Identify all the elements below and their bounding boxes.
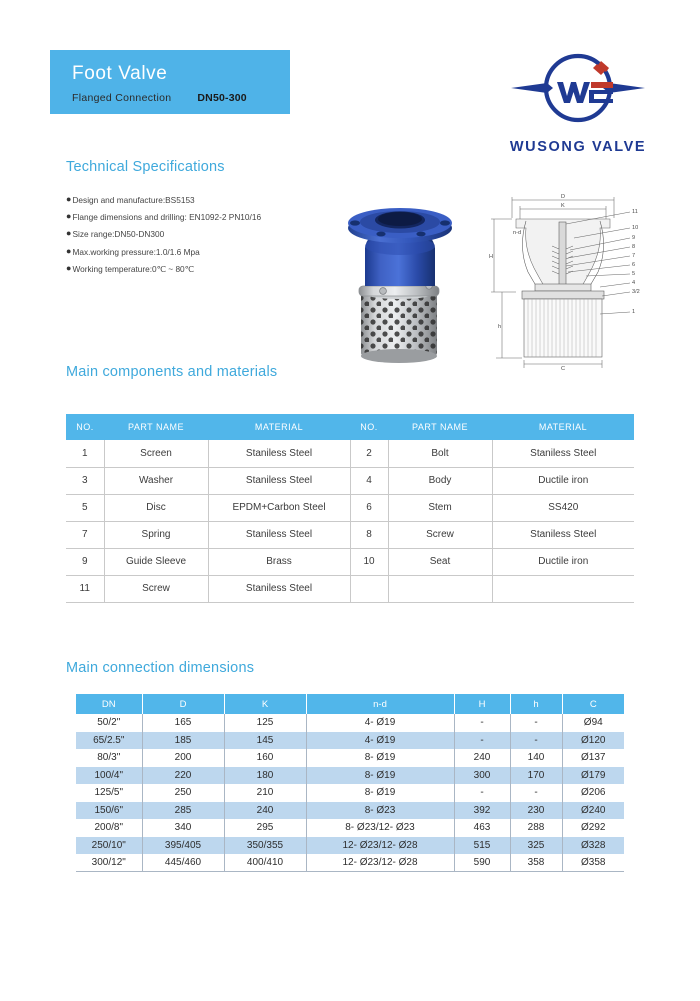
spec-bullet-text: Design and manufacture:BS5153 bbox=[72, 195, 194, 205]
materials-cell: Staniless Steel bbox=[492, 440, 634, 467]
dimensions-cell: 125 bbox=[224, 714, 306, 732]
spec-bullet-item: ●Working temperature:0℃ ~ 80℃ bbox=[66, 260, 336, 277]
section-heading-technical-specifications: Technical Specifications bbox=[66, 159, 225, 175]
dimensions-cell: 140 bbox=[510, 749, 562, 767]
svg-text:h: h bbox=[498, 324, 501, 330]
dimensions-table-body: 50/2"1651254- Ø19--Ø9465/2.5"1851454- Ø1… bbox=[76, 714, 624, 872]
dimensions-cell: 180 bbox=[224, 767, 306, 785]
materials-cell: EPDM+Carbon Steel bbox=[208, 494, 350, 521]
dimensions-cell: Ø94 bbox=[562, 714, 624, 732]
dimensions-cell: 185 bbox=[142, 732, 224, 750]
dimensions-cell: 250/10" bbox=[76, 837, 142, 855]
brand-name: WUSONG VALVE bbox=[493, 139, 663, 155]
product-photo-foot-valve bbox=[333, 186, 478, 368]
dimensions-cell: 325 bbox=[510, 837, 562, 855]
dimensions-column-header: DN bbox=[76, 694, 142, 714]
dimensions-cell: 340 bbox=[142, 819, 224, 837]
svg-text:6: 6 bbox=[632, 262, 635, 268]
dimensions-cell: 590 bbox=[454, 854, 510, 872]
spec-bullet-text: Working temperature:0℃ ~ 80℃ bbox=[72, 264, 194, 274]
dimensions-cell: 395/405 bbox=[142, 837, 224, 855]
materials-cell: 5 bbox=[66, 494, 104, 521]
dimensions-cell: 288 bbox=[510, 819, 562, 837]
materials-cell bbox=[388, 575, 492, 602]
svg-text:C: C bbox=[561, 366, 565, 370]
svg-text:9: 9 bbox=[632, 235, 635, 241]
table-row: 300/12"445/460400/41012- Ø23/12- Ø285903… bbox=[76, 854, 624, 872]
dimensions-cell: 300/12" bbox=[76, 854, 142, 872]
table-row: 3WasherStaniless Steel4BodyDuctile iron bbox=[66, 467, 634, 494]
dimensions-cell: 150/6" bbox=[76, 802, 142, 820]
wusong-logo-icon bbox=[493, 46, 663, 132]
dimensions-cell: 145 bbox=[224, 732, 306, 750]
svg-text:3/2: 3/2 bbox=[632, 289, 640, 295]
table-row: 200/8"3402958- Ø23/12- Ø23463288Ø292 bbox=[76, 819, 624, 837]
dimensions-column-header: n-d bbox=[306, 694, 454, 714]
svg-text:7: 7 bbox=[632, 253, 635, 259]
dimensions-table: DNDKn-dHhC 50/2"1651254- Ø19--Ø9465/2.5"… bbox=[76, 694, 624, 872]
materials-cell: Ductile iron bbox=[492, 548, 634, 575]
materials-cell: 7 bbox=[66, 521, 104, 548]
table-row: 250/10"395/405350/35512- Ø23/12- Ø285153… bbox=[76, 837, 624, 855]
materials-cell: Spring bbox=[104, 521, 208, 548]
materials-cell: Disc bbox=[104, 494, 208, 521]
svg-text:H: H bbox=[489, 254, 493, 260]
spec-bullet-item: ●Size range:DN50-DN300 bbox=[66, 225, 336, 242]
product-title-banner: Foot Valve Flanged Connection DN50-300 bbox=[50, 50, 290, 114]
dimensions-cell: 8- Ø19 bbox=[306, 767, 454, 785]
dimensions-cell: 12- Ø23/12- Ø28 bbox=[306, 854, 454, 872]
materials-cell: Ductile iron bbox=[492, 467, 634, 494]
dimensions-cell: 165 bbox=[142, 714, 224, 732]
materials-cell: Stem bbox=[388, 494, 492, 521]
page-title: Foot Valve bbox=[72, 62, 290, 86]
dimensions-cell: 350/355 bbox=[224, 837, 306, 855]
dimensions-cell: Ø328 bbox=[562, 837, 624, 855]
materials-cell: 4 bbox=[350, 467, 388, 494]
spec-bullet-item: ●Flange dimensions and drilling: EN1092-… bbox=[66, 208, 336, 225]
materials-cell: Seat bbox=[388, 548, 492, 575]
dimensions-cell: 220 bbox=[142, 767, 224, 785]
dimensions-column-header: K bbox=[224, 694, 306, 714]
table-row: 5DiscEPDM+Carbon Steel6StemSS420 bbox=[66, 494, 634, 521]
materials-cell: Screw bbox=[388, 521, 492, 548]
spec-bullet-text: Size range:DN50-DN300 bbox=[72, 229, 164, 239]
materials-cell: Staniless Steel bbox=[208, 440, 350, 467]
materials-column-header: NO. bbox=[66, 414, 104, 440]
dimensions-cell: Ø358 bbox=[562, 854, 624, 872]
dimensions-cell: 210 bbox=[224, 784, 306, 802]
section-heading-main-components: Main components and materials bbox=[66, 364, 277, 380]
dimensions-column-header: C bbox=[562, 694, 624, 714]
spec-bullet-item: ●Design and manufacture:BS5153 bbox=[66, 191, 336, 208]
dimensions-cell: 285 bbox=[142, 802, 224, 820]
materials-cell: Staniless Steel bbox=[208, 521, 350, 548]
dimensions-cell: Ø120 bbox=[562, 732, 624, 750]
dimensions-cell: 80/3" bbox=[76, 749, 142, 767]
dimensions-table-header-row: DNDKn-dHhC bbox=[76, 694, 624, 714]
materials-cell: Washer bbox=[104, 467, 208, 494]
table-row: 50/2"1651254- Ø19--Ø94 bbox=[76, 714, 624, 732]
materials-cell: Screen bbox=[104, 440, 208, 467]
materials-cell: Body bbox=[388, 467, 492, 494]
materials-table: NO.PART NAMEMATERIALNO.PART NAMEMATERIAL… bbox=[66, 414, 634, 603]
materials-cell: Bolt bbox=[388, 440, 492, 467]
bullet-dot-icon: ● bbox=[66, 225, 71, 241]
spec-bullet-item: ●Max.working pressure:1.0/1.6 Mpa bbox=[66, 243, 336, 260]
dimensions-cell: 250 bbox=[142, 784, 224, 802]
dimensions-cell: 8- Ø19 bbox=[306, 784, 454, 802]
dimensions-cell: 445/460 bbox=[142, 854, 224, 872]
dimensions-cell: 515 bbox=[454, 837, 510, 855]
materials-cell: 10 bbox=[350, 548, 388, 575]
table-row: 80/3"2001608- Ø19240140Ø137 bbox=[76, 749, 624, 767]
dimensions-cell: 50/2" bbox=[76, 714, 142, 732]
svg-text:K: K bbox=[561, 203, 565, 209]
spec-bullet-text: Max.working pressure:1.0/1.6 Mpa bbox=[72, 247, 199, 257]
table-row: 150/6"2852408- Ø23392230Ø240 bbox=[76, 802, 624, 820]
dimensions-cell: 230 bbox=[510, 802, 562, 820]
materials-column-header: MATERIAL bbox=[208, 414, 350, 440]
svg-text:1: 1 bbox=[632, 309, 635, 315]
materials-cell: 3 bbox=[66, 467, 104, 494]
materials-column-header: NO. bbox=[350, 414, 388, 440]
dimensions-cell: Ø292 bbox=[562, 819, 624, 837]
svg-text:11: 11 bbox=[632, 209, 638, 215]
dimensions-cell: 200/8" bbox=[76, 819, 142, 837]
table-row: 65/2.5"1851454- Ø19--Ø120 bbox=[76, 732, 624, 750]
svg-text:10: 10 bbox=[632, 225, 638, 231]
materials-cell: Staniless Steel bbox=[208, 467, 350, 494]
size-range-badge: DN50-300 bbox=[197, 92, 246, 104]
bullet-dot-icon: ● bbox=[66, 260, 71, 276]
table-row: 1ScreenStaniless Steel2BoltStaniless Ste… bbox=[66, 440, 634, 467]
dimensions-cell: 4- Ø19 bbox=[306, 732, 454, 750]
dimensions-cell: 392 bbox=[454, 802, 510, 820]
svg-text:n-d: n-d bbox=[513, 230, 521, 236]
dimensions-column-header: D bbox=[142, 694, 224, 714]
dimensions-cell: 200 bbox=[142, 749, 224, 767]
svg-text:D: D bbox=[561, 194, 565, 200]
dimensions-cell: 240 bbox=[454, 749, 510, 767]
svg-text:5: 5 bbox=[632, 271, 635, 277]
dimensions-cell: 125/5" bbox=[76, 784, 142, 802]
dimensions-column-header: h bbox=[510, 694, 562, 714]
bullet-dot-icon: ● bbox=[66, 191, 71, 207]
dimensions-cell: 65/2.5" bbox=[76, 732, 142, 750]
spec-bullet-text: Flange dimensions and drilling: EN1092-2… bbox=[72, 212, 261, 222]
dimensions-cell: 240 bbox=[224, 802, 306, 820]
materials-table-body: 1ScreenStaniless Steel2BoltStaniless Ste… bbox=[66, 440, 634, 602]
dimensions-cell: 358 bbox=[510, 854, 562, 872]
banner-subtitle-row: Flanged Connection DN50-300 bbox=[72, 92, 290, 104]
materials-cell: 8 bbox=[350, 521, 388, 548]
dimensions-cell: 400/410 bbox=[224, 854, 306, 872]
connection-type-label: Flanged Connection bbox=[72, 92, 171, 104]
materials-cell: 6 bbox=[350, 494, 388, 521]
bullet-dot-icon: ● bbox=[66, 208, 71, 224]
technical-drawing-cross-section: 11 10 9 8 7 6 5 4 3/2 1 D K H h C n-d bbox=[482, 188, 652, 370]
table-row: 11ScrewStaniless Steel bbox=[66, 575, 634, 602]
dimensions-cell: 295 bbox=[224, 819, 306, 837]
materials-column-header: PART NAME bbox=[104, 414, 208, 440]
dimensions-cell: - bbox=[454, 732, 510, 750]
materials-cell bbox=[492, 575, 634, 602]
dimensions-column-header: H bbox=[454, 694, 510, 714]
dimensions-cell: 160 bbox=[224, 749, 306, 767]
table-row: 100/4"2201808- Ø19300170Ø179 bbox=[76, 767, 624, 785]
materials-cell: Brass bbox=[208, 548, 350, 575]
dimensions-cell: 463 bbox=[454, 819, 510, 837]
materials-table-header-row: NO.PART NAMEMATERIALNO.PART NAMEMATERIAL bbox=[66, 414, 634, 440]
materials-cell: Guide Sleeve bbox=[104, 548, 208, 575]
svg-text:4: 4 bbox=[632, 280, 635, 286]
materials-cell: 1 bbox=[66, 440, 104, 467]
materials-cell bbox=[350, 575, 388, 602]
svg-text:8: 8 bbox=[632, 244, 635, 250]
materials-cell: SS420 bbox=[492, 494, 634, 521]
section-heading-main-dimensions: Main connection dimensions bbox=[66, 660, 254, 676]
materials-cell: Screw bbox=[104, 575, 208, 602]
dimensions-cell: 300 bbox=[454, 767, 510, 785]
materials-column-header: MATERIAL bbox=[492, 414, 634, 440]
materials-cell: Staniless Steel bbox=[208, 575, 350, 602]
dimensions-cell: - bbox=[510, 732, 562, 750]
dimensions-cell: - bbox=[454, 714, 510, 732]
dimensions-cell: 8- Ø23 bbox=[306, 802, 454, 820]
dimensions-cell: 170 bbox=[510, 767, 562, 785]
datasheet-page: Foot Valve Flanged Connection DN50-300 W… bbox=[0, 0, 700, 1001]
dimensions-cell: 12- Ø23/12- Ø28 bbox=[306, 837, 454, 855]
bullet-dot-icon: ● bbox=[66, 243, 71, 259]
dimensions-cell: Ø137 bbox=[562, 749, 624, 767]
dimensions-cell: 8- Ø23/12- Ø23 bbox=[306, 819, 454, 837]
materials-cell: 9 bbox=[66, 548, 104, 575]
dimensions-cell: Ø206 bbox=[562, 784, 624, 802]
table-row: 125/5"2502108- Ø19--Ø206 bbox=[76, 784, 624, 802]
materials-column-header: PART NAME bbox=[388, 414, 492, 440]
technical-specification-list: ●Design and manufacture:BS5153●Flange di… bbox=[66, 191, 336, 277]
materials-cell: Staniless Steel bbox=[492, 521, 634, 548]
dimensions-cell: 8- Ø19 bbox=[306, 749, 454, 767]
dimensions-cell: Ø240 bbox=[562, 802, 624, 820]
dimensions-cell: - bbox=[510, 784, 562, 802]
table-row: 7SpringStaniless Steel8ScrewStaniless St… bbox=[66, 521, 634, 548]
dimensions-cell: 100/4" bbox=[76, 767, 142, 785]
materials-cell: 2 bbox=[350, 440, 388, 467]
materials-cell: 11 bbox=[66, 575, 104, 602]
company-logo: WUSONG VALVE bbox=[493, 46, 663, 155]
dimensions-cell: - bbox=[510, 714, 562, 732]
dimensions-cell: Ø179 bbox=[562, 767, 624, 785]
dimensions-cell: 4- Ø19 bbox=[306, 714, 454, 732]
table-row: 9Guide SleeveBrass10SeatDuctile iron bbox=[66, 548, 634, 575]
dimensions-cell: - bbox=[454, 784, 510, 802]
